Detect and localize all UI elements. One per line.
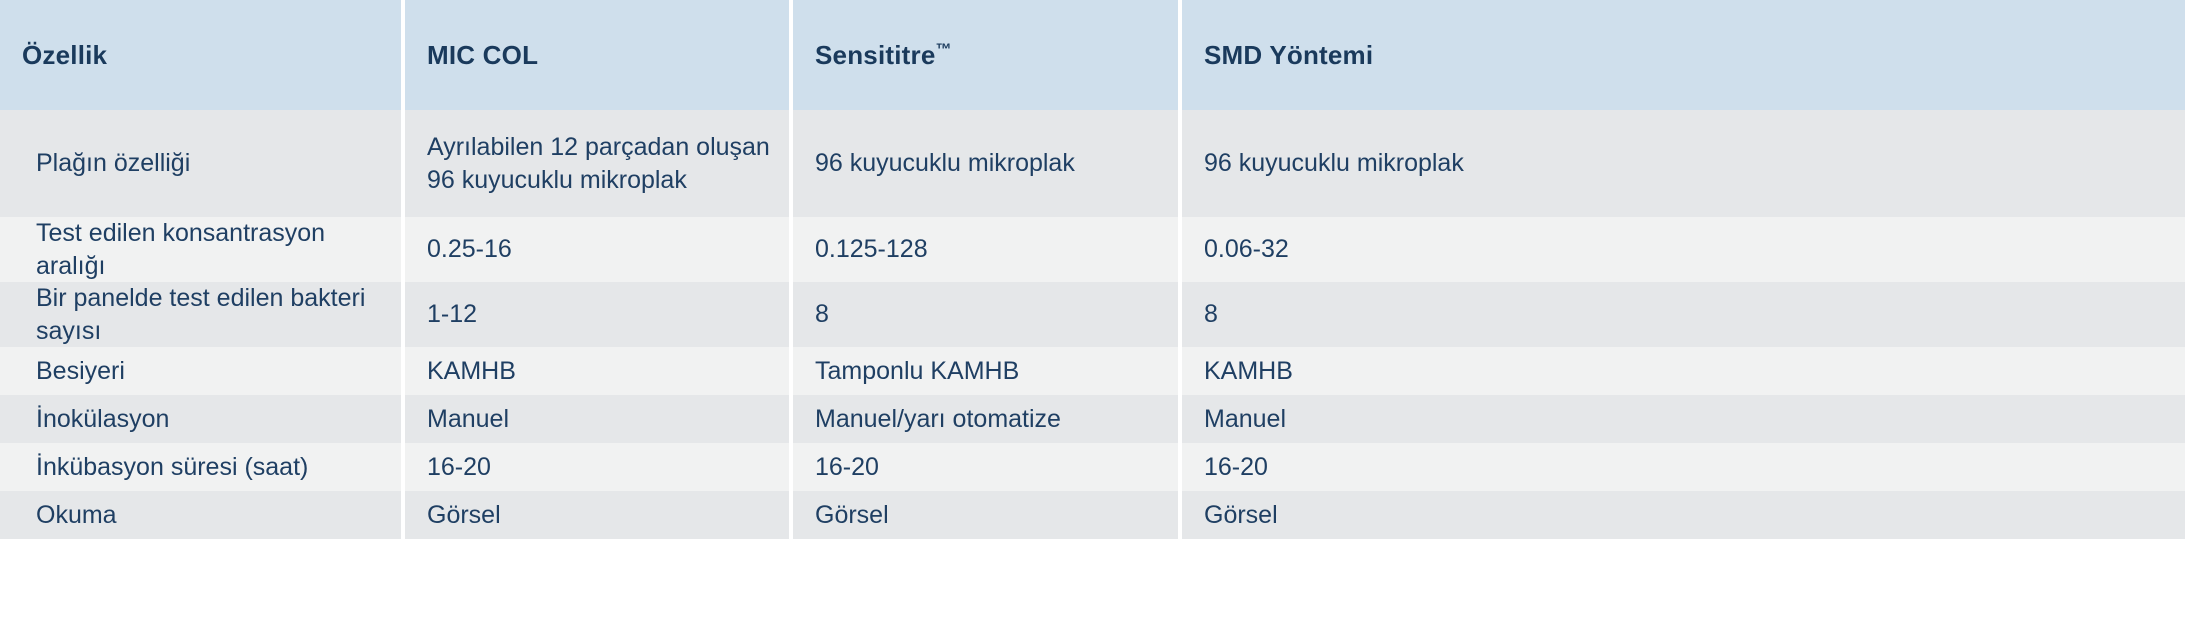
cell-smd: Manuel: [1182, 395, 2185, 443]
column-header-miccol-label: MIC COL: [427, 40, 538, 70]
cell-miccol: 1-12: [405, 282, 793, 347]
table-row: İnkübasyon süresi (saat) 16-20 16-20 16-…: [0, 443, 2185, 491]
column-header-smd: SMD Yöntemi: [1182, 0, 2185, 110]
cell-feature: Besiyeri: [0, 347, 405, 395]
cell-miccol: Ayrılabilen 12 parçadan oluşan 96 kuyucu…: [405, 110, 793, 217]
cell-smd: 8: [1182, 282, 2185, 347]
cell-smd: 16-20: [1182, 443, 2185, 491]
cell-miccol: KAMHB: [405, 347, 793, 395]
cell-feature: Test edilen konsantrasyon aralığı: [0, 217, 405, 282]
table-header: Özellik MIC COL Sensititre™ SMD Yöntemi: [0, 0, 2185, 110]
cell-sensititre: 96 kuyucuklu mikroplak: [793, 110, 1182, 217]
column-header-sensititre-label: Sensititre: [815, 40, 936, 70]
header-row: Özellik MIC COL Sensititre™ SMD Yöntemi: [0, 0, 2185, 110]
table-row: Test edilen konsantrasyon aralığı 0.25-1…: [0, 217, 2185, 282]
column-header-feature: Özellik: [0, 0, 405, 110]
table-body: Plağın özelliği Ayrılabilen 12 parçadan …: [0, 110, 2185, 539]
cell-miccol: 16-20: [405, 443, 793, 491]
cell-sensititre: 0.125-128: [793, 217, 1182, 282]
table-row: Plağın özelliği Ayrılabilen 12 parçadan …: [0, 110, 2185, 217]
trademark-symbol: ™: [936, 41, 952, 58]
cell-smd: Görsel: [1182, 491, 2185, 539]
cell-miccol: Manuel: [405, 395, 793, 443]
cell-feature: Plağın özelliği: [0, 110, 405, 217]
cell-feature: İnokülasyon: [0, 395, 405, 443]
cell-sensititre: Tamponlu KAMHB: [793, 347, 1182, 395]
cell-smd: KAMHB: [1182, 347, 2185, 395]
table-row: Okuma Görsel Görsel Görsel: [0, 491, 2185, 539]
column-header-miccol: MIC COL: [405, 0, 793, 110]
cell-smd: 0.06-32: [1182, 217, 2185, 282]
cell-feature: İnkübasyon süresi (saat): [0, 443, 405, 491]
cell-sensititre: 16-20: [793, 443, 1182, 491]
column-header-feature-label: Özellik: [22, 40, 107, 70]
column-header-sensititre: Sensititre™: [793, 0, 1182, 110]
cell-miccol: 0.25-16: [405, 217, 793, 282]
table-row: Besiyeri KAMHB Tamponlu KAMHB KAMHB: [0, 347, 2185, 395]
method-comparison-table: Özellik MIC COL Sensititre™ SMD Yöntemi …: [0, 0, 2185, 539]
cell-sensititre: 8: [793, 282, 1182, 347]
column-header-smd-label: SMD Yöntemi: [1204, 40, 1373, 70]
cell-feature: Okuma: [0, 491, 405, 539]
cell-feature: Bir panelde test edilen bakteri sayısı: [0, 282, 405, 347]
cell-sensititre: Manuel/yarı otomatize: [793, 395, 1182, 443]
cell-smd: 96 kuyucuklu mikroplak: [1182, 110, 2185, 217]
table-row: İnokülasyon Manuel Manuel/yarı otomatize…: [0, 395, 2185, 443]
cell-sensititre: Görsel: [793, 491, 1182, 539]
table-row: Bir panelde test edilen bakteri sayısı 1…: [0, 282, 2185, 347]
cell-miccol: Görsel: [405, 491, 793, 539]
comparison-table-container: Özellik MIC COL Sensititre™ SMD Yöntemi …: [0, 0, 2185, 625]
